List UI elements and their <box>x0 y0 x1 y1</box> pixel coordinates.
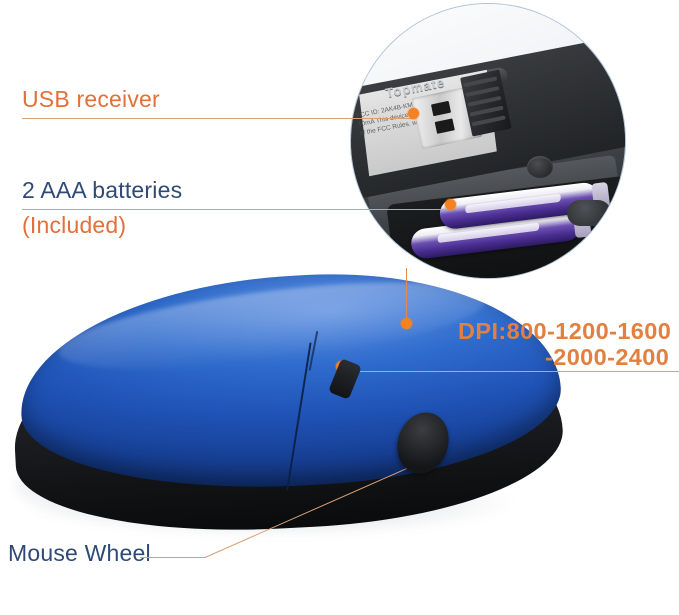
wireless-mouse-photo <box>8 268 568 538</box>
leader-line-aaa-batteries <box>22 209 450 210</box>
product-image-canvas: FCC ID: 2AK4B-KM9000 Rating: 3V ⎓ 10mA T… <box>0 0 679 615</box>
callout-label-dpi-line2: -2000-2400 <box>545 344 669 371</box>
leader-line-inset-to-mouse <box>406 268 407 324</box>
leader-line-dpi <box>345 371 679 372</box>
battery-compartment-inset: FCC ID: 2AK4B-KM9000 Rating: 3V ⎓ 10mA T… <box>350 3 626 279</box>
inset-screw-hole <box>527 156 553 178</box>
callout-label-usb-receiver: USB receiver <box>22 86 160 113</box>
inset-mouse-foot <box>567 200 611 226</box>
leader-line-usb-receiver <box>22 118 414 119</box>
callout-label-aaa-batteries: 2 AAA batteries <box>22 177 182 204</box>
marker-dot-usb-receiver <box>408 108 419 119</box>
callout-label-mouse-wheel: Mouse Wheel <box>8 540 151 567</box>
marker-dot-aaa-batteries <box>445 199 456 210</box>
callout-label-dpi-line1: DPI:800-1200-1600 <box>458 318 671 345</box>
callout-sublabel-included: (Included) <box>22 212 126 239</box>
marker-dot-inset-link <box>401 318 412 329</box>
leader-line-mouse-wheel-horizontal <box>140 557 206 558</box>
shell-highlight <box>54 265 489 387</box>
button-seam <box>286 342 311 490</box>
